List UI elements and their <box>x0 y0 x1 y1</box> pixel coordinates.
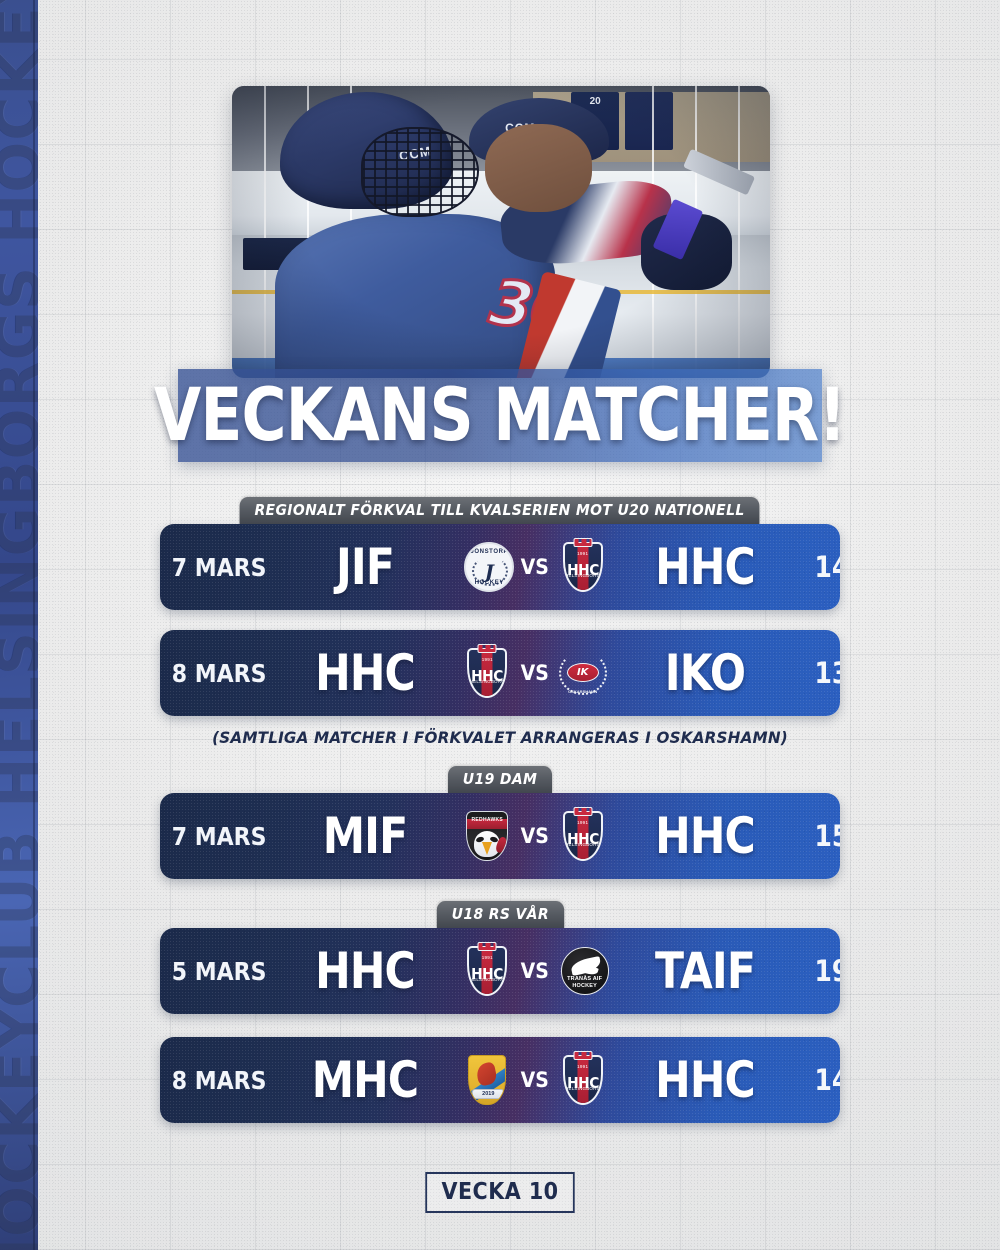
week-badge: VECKA 10 <box>425 1172 574 1213</box>
home-team-abbr: MHC <box>284 1055 446 1105</box>
home-team-abbr: MIF <box>284 811 446 861</box>
match-logos: 1991 HHC HELSINGBORG VS TRANÅS AIF HOCKE… <box>460 943 610 999</box>
mhc-ribbon-text: 2019 <box>473 1090 503 1098</box>
versus-label: VS <box>521 661 549 685</box>
section-tab-container: U19 DAM <box>0 766 1000 793</box>
jonstorp-top-text: JONSTORP <box>466 549 512 555</box>
match-teams: JIF JONSTORP J HOCKEY VS 1991 <box>270 539 800 595</box>
home-team-abbr: HHC <box>284 648 446 698</box>
match-date: 7 MARS <box>172 822 256 851</box>
hhc-city: HELSINGBORG <box>565 573 601 578</box>
section-tab-u19-dam: U19 DAM <box>448 766 552 793</box>
hhc-city: HELSINGBORG <box>469 977 505 982</box>
match-date: 5 MARS <box>172 957 256 986</box>
section-tab-container: REGIONALT FÖRKVAL TILL KVALSERIEN MOT U2… <box>0 497 1000 524</box>
match-teams: HHC 1991 HHC HELSINGBORG VS <box>270 943 800 999</box>
left-brand-spine: HOCKEYCLUB HELSINGBORGS HOCKEY <box>0 0 38 1250</box>
away-team-abbr: HHC <box>624 542 786 592</box>
match-logos: 1991 HHC HELSINGBORG VS IK OSKARSHAMN <box>460 645 610 701</box>
home-team-abbr: JIF <box>284 542 446 592</box>
crown-icon <box>478 942 497 951</box>
title-banner: VECKANS MATCHER! <box>178 369 822 462</box>
versus-label: VS <box>521 959 549 983</box>
versus-label: VS <box>521 555 549 579</box>
page-title: VECKANS MATCHER! <box>154 379 846 452</box>
away-team-abbr: TAIF <box>624 946 786 996</box>
photo-vignette <box>232 86 770 378</box>
match-row[interactable]: 8 MARS HHC 1991 HHC HELSINGBORG VS <box>160 630 840 716</box>
iko-letters: IK <box>568 667 598 678</box>
spine-divider-line <box>33 0 35 1250</box>
hhc-year: 1991 <box>469 657 505 662</box>
match-teams: HHC 1991 HHC HELSINGBORG VS IK <box>270 645 800 701</box>
jonstorp-bottom-text: HOCKEY <box>466 580 512 586</box>
shield-ribbon: 2019 <box>472 1089 504 1099</box>
hhc-city: HELSINGBORG <box>469 679 505 684</box>
section-tab-u20-forkval: REGIONALT FÖRKVAL TILL KVALSERIEN MOT U2… <box>240 497 760 524</box>
match-logos: REDHAWKS VS 1991 HHC HELSINGBORG <box>460 808 610 864</box>
section-note-forkval: (SAMTLIGA MATCHER I FÖRKVALET ARRANGERAS… <box>25 728 975 747</box>
hhc-year: 1991 <box>469 955 505 960</box>
hhc-year: 1991 <box>565 820 601 825</box>
crown-icon <box>478 644 497 653</box>
poster-root: HOCKEYCLUB HELSINGBORGS HOCKEY 20 36 CCM… <box>0 0 1000 1250</box>
hhc-helsingborg-logo: 1991 HHC HELSINGBORG <box>461 645 513 701</box>
hhc-year: 1991 <box>565 551 601 556</box>
match-logos: 2019 VS 1991 HHC HELSINGBORG <box>460 1052 610 1108</box>
match-teams: MIF REDHAWKS VS <box>270 808 800 864</box>
tranas-line-1: TRANÅS AIF <box>562 976 608 982</box>
hhc-helsingborg-logo: 1991 HHC HELSINGBORG <box>557 1052 609 1108</box>
match-time: 13:30 <box>814 656 840 690</box>
match-date: 8 MARS <box>172 659 256 688</box>
section-tab-u18-rs-var: U18 RS VÅR <box>436 901 563 928</box>
crown-icon <box>573 538 592 547</box>
ik-oskarshamn-logo: IK OSKARSHAMN <box>557 645 609 701</box>
away-team-abbr: HHC <box>624 1055 786 1105</box>
match-logos: JONSTORP J HOCKEY VS 1991 HHC HELSINGBOR… <box>460 539 610 595</box>
malmo-redhawks-logo: REDHAWKS <box>461 808 513 864</box>
away-team-abbr: HHC <box>624 811 786 861</box>
match-date: 8 MARS <box>172 1066 256 1095</box>
home-team-abbr: HHC <box>284 946 446 996</box>
versus-label: VS <box>521 1068 549 1092</box>
jonstorp-hockey-logo: JONSTORP J HOCKEY <box>461 539 513 595</box>
match-row[interactable]: 5 MARS HHC 1991 HHC HELSINGBORG VS <box>160 928 840 1014</box>
hhc-helsingborg-logo: 1991 HHC HELSINGBORG <box>557 539 609 595</box>
match-time: 15:30 <box>814 819 840 853</box>
hhc-city: HELSINGBORG <box>565 1086 601 1091</box>
crown-icon <box>573 1051 592 1060</box>
match-row[interactable]: 8 MARS MHC 2019 VS <box>160 1037 840 1123</box>
hero-photo: 20 36 CCM CCM <box>232 86 770 378</box>
hhc-city: HELSINGBORG <box>565 842 601 847</box>
crown-icon <box>573 807 592 816</box>
tranas-aif-hockey-logo: TRANÅS AIF HOCKEY <box>557 943 609 999</box>
section-tab-container: U18 RS VÅR <box>0 901 1000 928</box>
mhc-gold-shield-logo: 2019 <box>461 1052 513 1108</box>
match-row[interactable]: 7 MARS JIF JONSTORP J HOCKEY VS <box>160 524 840 610</box>
match-row[interactable]: 7 MARS MIF REDHAWKS VS <box>160 793 840 879</box>
match-time: 19:15 <box>814 954 840 988</box>
match-time: 14:00 <box>814 1063 840 1097</box>
footer: VECKA 10 <box>0 1172 1000 1213</box>
hhc-year: 1991 <box>565 1064 601 1069</box>
match-date: 7 MARS <box>172 553 256 582</box>
match-time: 14:00 <box>814 550 840 584</box>
match-teams: MHC 2019 VS 1991 <box>270 1052 800 1108</box>
hhc-helsingborg-logo: 1991 HHC HELSINGBORG <box>557 808 609 864</box>
iko-city: OSKARSHAMN <box>557 689 609 694</box>
away-team-abbr: IKO <box>624 648 786 698</box>
versus-label: VS <box>521 824 549 848</box>
redhawks-text: REDHAWKS <box>461 817 513 823</box>
hhc-helsingborg-logo: 1991 HHC HELSINGBORG <box>461 943 513 999</box>
tranas-line-2: HOCKEY <box>562 983 608 989</box>
